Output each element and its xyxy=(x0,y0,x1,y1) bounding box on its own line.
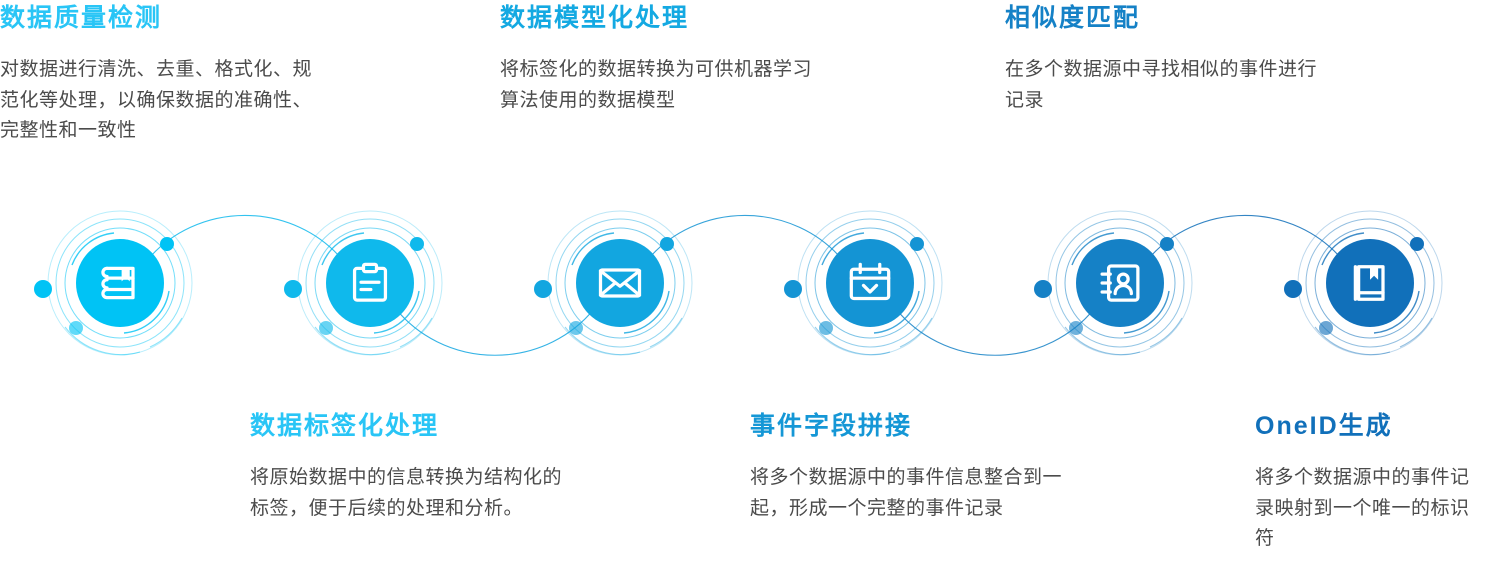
step-description-2: 将原始数据中的信息转换为结构化的标签，便于后续的处理和分析。 xyxy=(250,463,568,525)
process-flow-wave xyxy=(0,180,1496,400)
step-description-4: 将多个数据源中的事件信息整合到一起，形成一个完整的事件记录 xyxy=(750,463,1068,525)
satellite-dot-lower-left xyxy=(1069,321,1083,335)
node-2 xyxy=(284,211,442,355)
satellite-dot-upper-right xyxy=(1160,237,1174,251)
step-description-5: 在多个数据源中寻找相似的事件进行记录 xyxy=(1005,55,1323,117)
step-title-1: 数据质量检测 xyxy=(0,4,330,33)
satellite-dot-lower-left xyxy=(69,321,83,335)
step-description-3: 将标签化的数据转换为可供机器学习算法使用的数据模型 xyxy=(500,55,818,117)
node-3 xyxy=(534,211,692,355)
node-rings xyxy=(34,211,1442,355)
step-text-block-4: 事件字段拼接 将多个数据源中的事件信息整合到一起，形成一个完整的事件记录 xyxy=(750,412,1080,524)
satellite-dot-left xyxy=(34,280,52,298)
satellite-dot-lower-left xyxy=(819,321,833,335)
satellite-dot-upper-right xyxy=(1410,237,1424,251)
step-text-block-2: 数据标签化处理 将原始数据中的信息转换为结构化的标签，便于后续的处理和分析。 xyxy=(250,412,580,524)
satellite-dot-left xyxy=(784,280,802,298)
satellite-dot-left xyxy=(1034,280,1052,298)
step-title-6: OneID生成 xyxy=(1255,412,1496,441)
step-text-block-5: 相似度匹配 在多个数据源中寻找相似的事件进行记录 xyxy=(1005,4,1335,116)
satellite-dot-lower-left xyxy=(319,321,333,335)
step-title-5: 相似度匹配 xyxy=(1005,4,1335,33)
step-title-3: 数据模型化处理 xyxy=(500,4,830,33)
step-description-6: 将多个数据源中的事件记录映射到一个唯一的标识符 xyxy=(1255,463,1485,555)
step-title-2: 数据标签化处理 xyxy=(250,412,580,441)
satellite-dot-upper-right xyxy=(410,237,424,251)
step-title-4: 事件字段拼接 xyxy=(750,412,1080,441)
step-description-1: 对数据进行清洗、去重、格式化、规范化等处理，以确保数据的准确性、完整性和一致性 xyxy=(0,55,318,147)
node-1 xyxy=(34,211,192,355)
node-4 xyxy=(784,211,942,355)
satellite-dot-upper-right xyxy=(660,237,674,251)
step-text-block-1: 数据质量检测 对数据进行清洗、去重、格式化、规范化等处理，以确保数据的准确性、完… xyxy=(0,4,330,147)
node-5 xyxy=(1034,211,1192,355)
node-6 xyxy=(1284,211,1442,355)
step-text-block-6: OneID生成 将多个数据源中的事件记录映射到一个唯一的标识符 xyxy=(1255,412,1496,555)
satellite-dot-lower-left xyxy=(569,321,583,335)
satellite-dot-left xyxy=(284,280,302,298)
infographic-canvas: 数据质量检测 对数据进行清洗、去重、格式化、规范化等处理，以确保数据的准确性、完… xyxy=(0,0,1496,572)
satellite-dot-lower-left xyxy=(1319,321,1333,335)
step-text-block-3: 数据模型化处理 将标签化的数据转换为可供机器学习算法使用的数据模型 xyxy=(500,4,830,116)
satellite-dot-upper-right xyxy=(910,237,924,251)
satellite-dot-left xyxy=(534,280,552,298)
satellite-dot-left xyxy=(1284,280,1302,298)
satellite-dot-upper-right xyxy=(160,237,174,251)
